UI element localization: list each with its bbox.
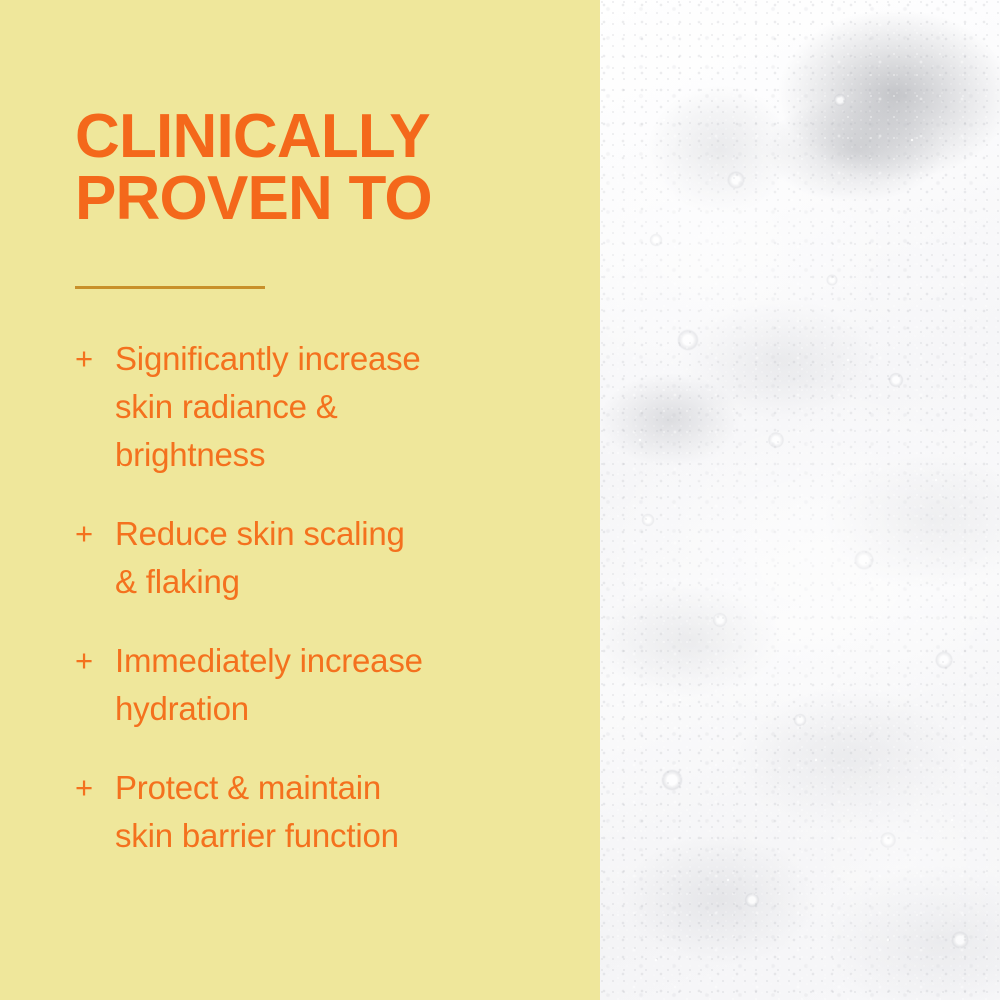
foam-sparkle-layer: [600, 0, 1000, 1000]
title-divider-rule: [75, 286, 265, 289]
benefit-text: Immediately increase hydration: [115, 637, 565, 733]
benefit-text: Protect & maintain skin barrier function: [115, 764, 565, 860]
benefit-text: Reduce skin scaling & flaking: [115, 510, 565, 606]
benefits-list: + Significantly increase skin radiance &…: [75, 335, 565, 860]
foam-photo: [600, 0, 1000, 1000]
plus-icon: +: [75, 335, 115, 383]
plus-icon: +: [75, 637, 115, 685]
content-panel: Clinically Proven To + Significantly inc…: [0, 0, 600, 1000]
list-item: + Immediately increase hydration: [75, 637, 565, 733]
promo-graphic: Clinically Proven To + Significantly inc…: [0, 0, 1000, 1000]
list-item: + Significantly increase skin radiance &…: [75, 335, 565, 479]
list-item: + Reduce skin scaling & flaking: [75, 510, 565, 606]
plus-icon: +: [75, 510, 115, 558]
list-item: + Protect & maintain skin barrier functi…: [75, 764, 565, 860]
plus-icon: +: [75, 764, 115, 812]
benefit-text: Significantly increase skin radiance & b…: [115, 335, 565, 479]
page-title: Clinically Proven To: [75, 106, 545, 230]
